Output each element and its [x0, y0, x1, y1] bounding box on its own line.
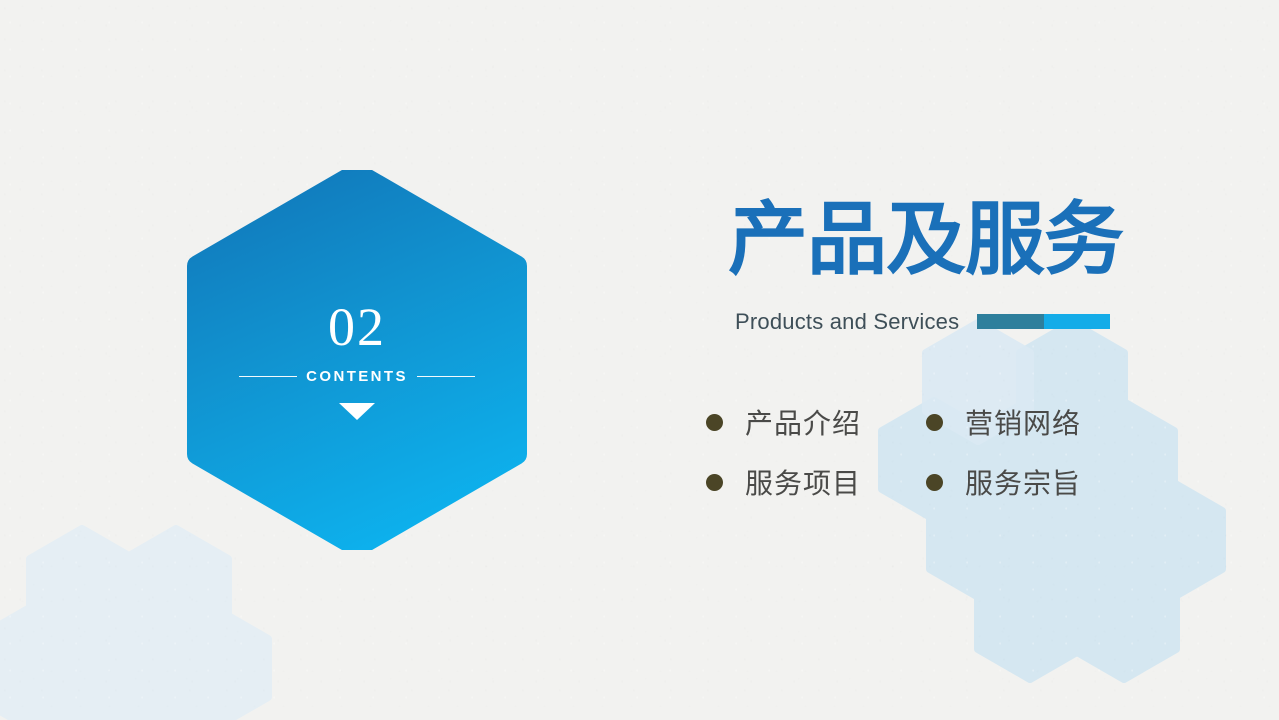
agenda-bullet-list: 产品介绍 营销网络 服务项目 服务宗旨 [706, 392, 1146, 512]
list-item-label: 营销网络 [965, 402, 1081, 442]
accent-bar [977, 314, 1110, 329]
accent-bar-segment-right [1044, 314, 1111, 329]
presentation-slide: 02 CONTENTS 产品及服务 Products and Services … [0, 0, 1279, 720]
list-item[interactable]: 产品介绍 [706, 402, 926, 442]
contents-hexagon-content: 02 CONTENTS [186, 170, 528, 550]
list-item-label: 服务宗旨 [965, 462, 1081, 502]
bullet-dot-icon [926, 414, 943, 431]
list-item-label: 服务项目 [745, 462, 861, 502]
hexagon-cluster-bottom-left [0, 529, 268, 720]
list-item[interactable]: 营销网络 [926, 402, 1146, 442]
caret-down-icon [339, 403, 375, 420]
list-item[interactable]: 服务项目 [706, 462, 926, 502]
page-subtitle: Products and Services [735, 309, 959, 335]
page-title: 产品及服务 [728, 200, 1123, 280]
section-number: 02 [328, 300, 386, 354]
title-block: 产品及服务 [728, 200, 1123, 280]
contents-rule-left [239, 376, 297, 377]
accent-bar-segment-left [977, 314, 1044, 329]
list-item-label: 产品介绍 [745, 402, 861, 442]
subtitle-row: Products and Services [735, 305, 1110, 339]
contents-label: CONTENTS [297, 368, 417, 385]
bullet-dot-icon [926, 474, 943, 491]
bullet-dot-icon [706, 414, 723, 431]
contents-rule-right [417, 376, 475, 377]
list-item[interactable]: 服务宗旨 [926, 462, 1146, 502]
contents-label-row: CONTENTS [239, 368, 475, 385]
bullet-dot-icon [706, 474, 723, 491]
